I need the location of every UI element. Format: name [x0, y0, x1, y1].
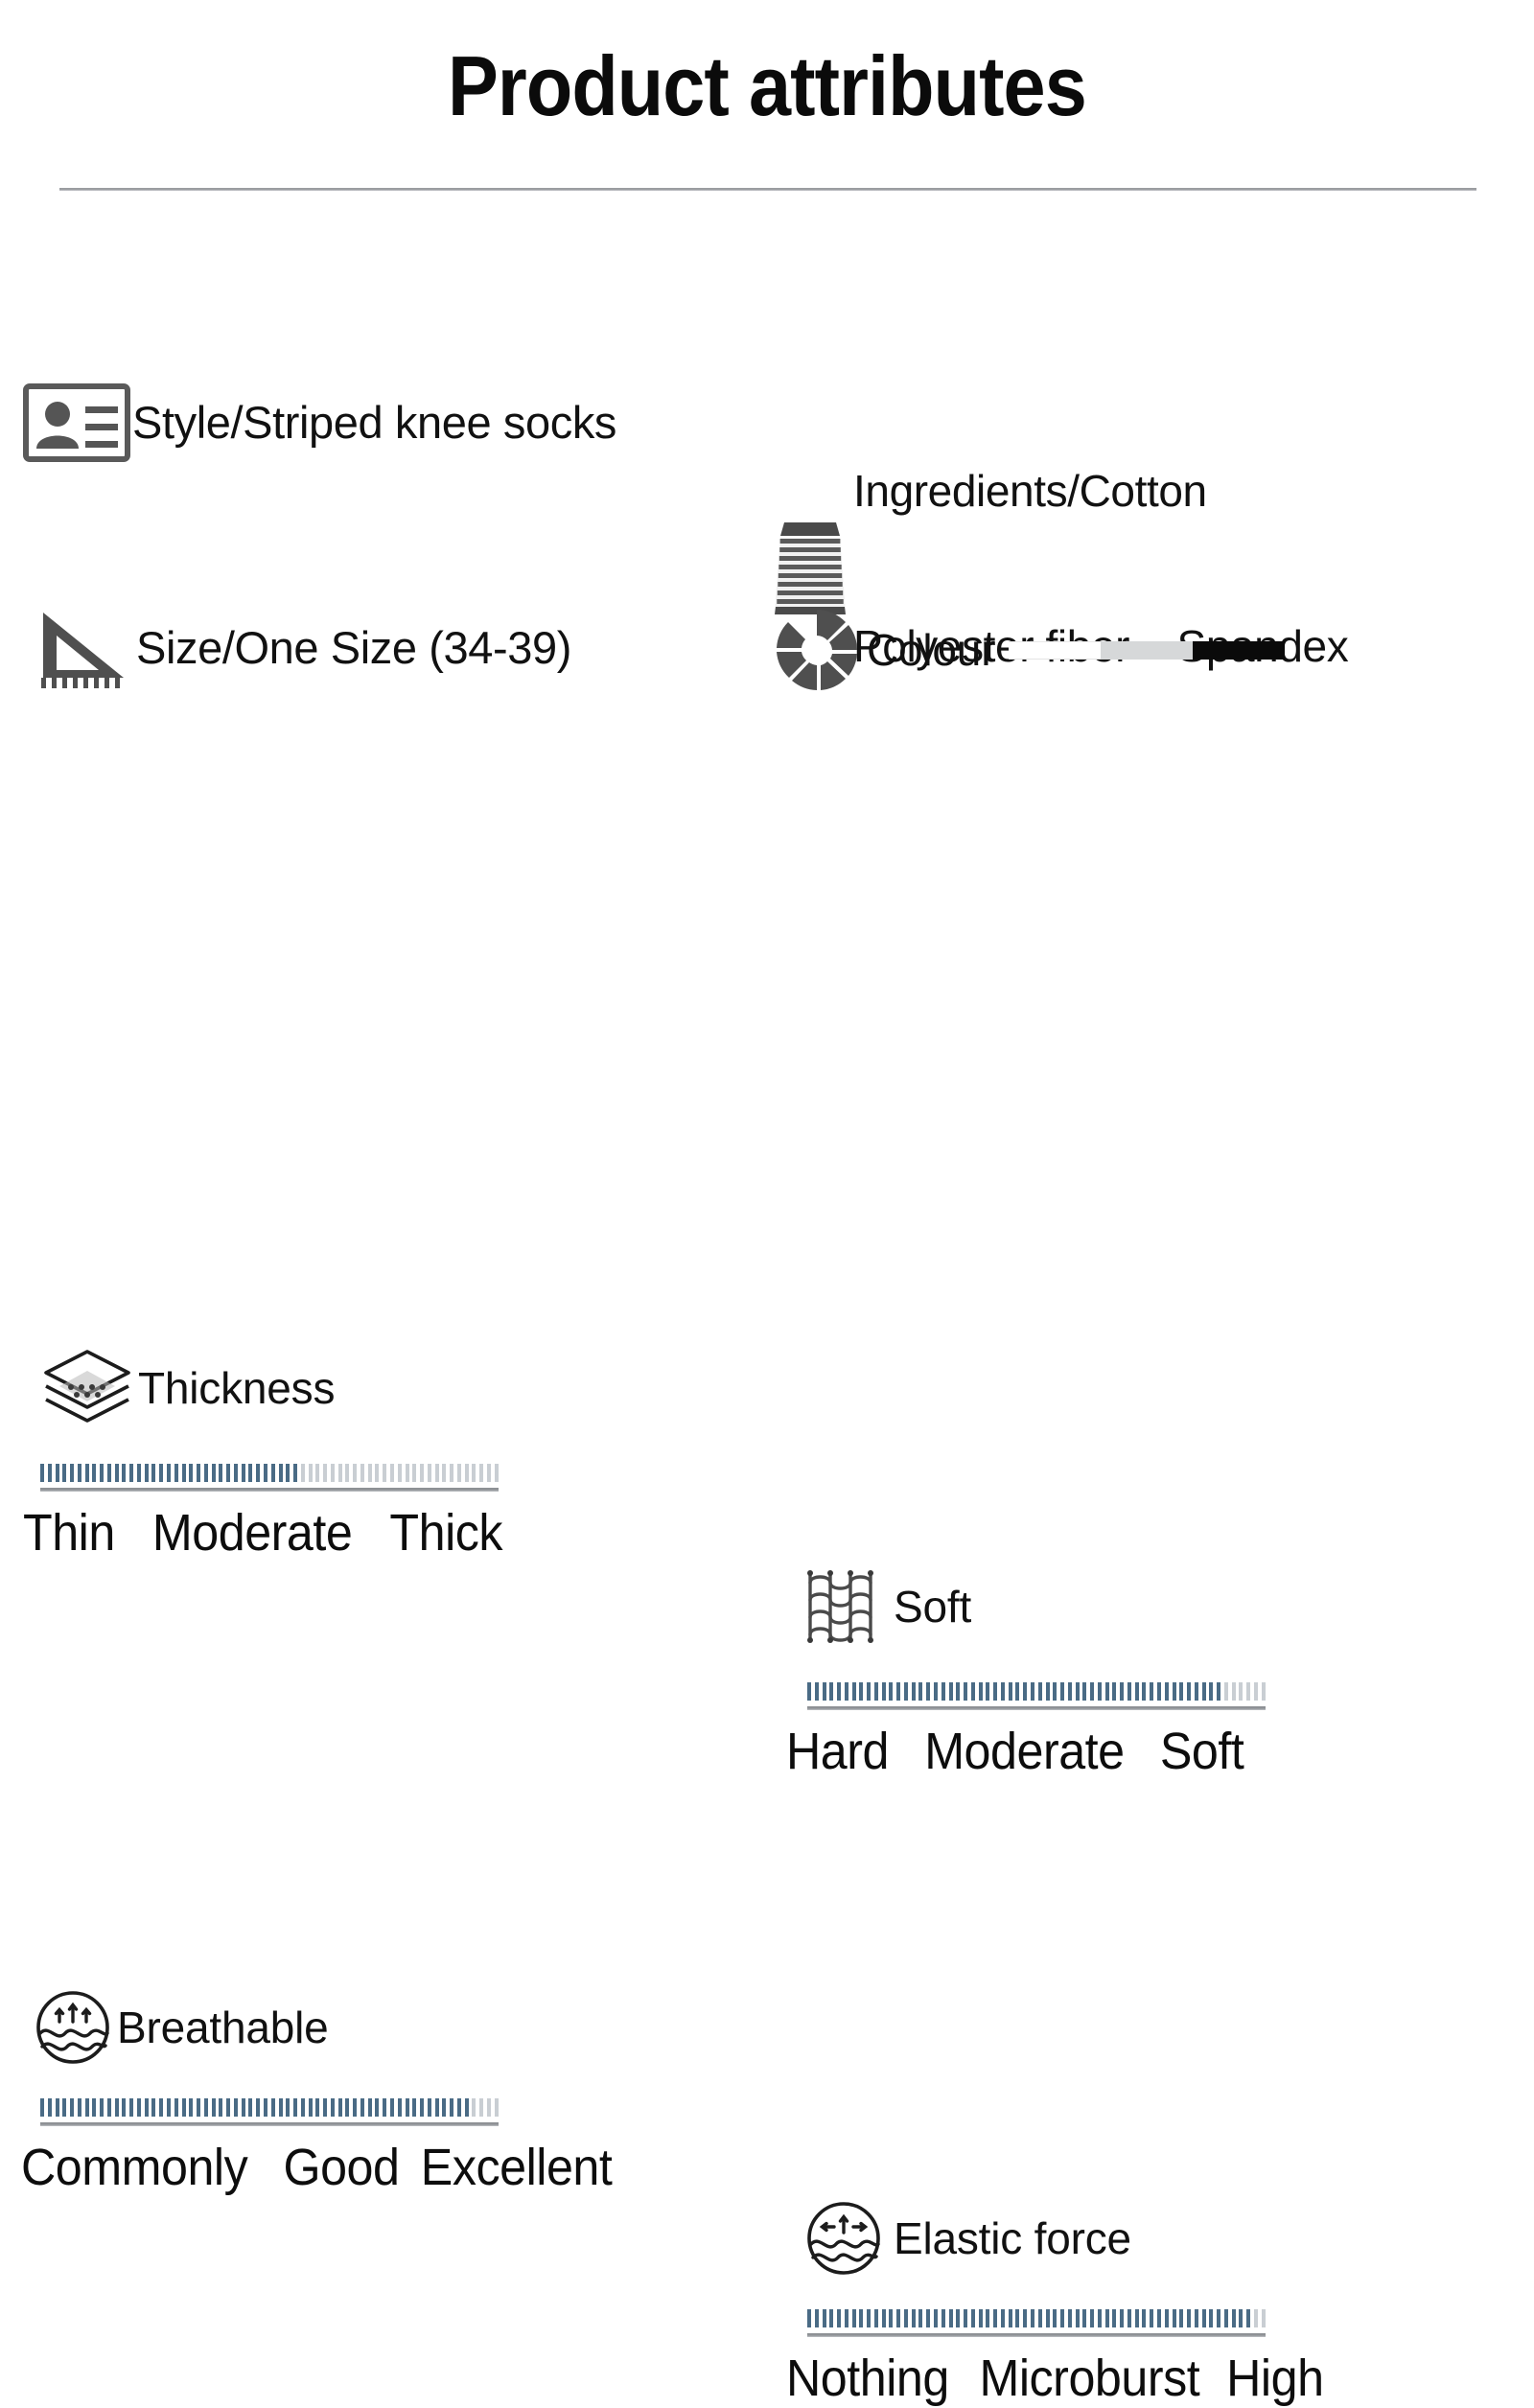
gauge-tick: [1187, 2309, 1191, 2327]
gauge-tick: [122, 1464, 126, 1482]
breathable-scale-0: Commonly: [21, 2138, 247, 2197]
gauge-tick: [1262, 1682, 1266, 1701]
gauge-tick: [1142, 2309, 1146, 2327]
gauge-tick: [92, 1464, 96, 1482]
gauge-tick: [406, 1464, 409, 1482]
gauge-tick: [40, 2098, 44, 2117]
swatch-grey[interactable]: [1101, 641, 1193, 660]
gauge-tick: [137, 1464, 141, 1482]
gauge-tick: [345, 1464, 349, 1482]
colour-swatches: [1009, 641, 1285, 660]
gauge-tick: [465, 1464, 469, 1482]
gauge-tick: [85, 2098, 89, 2117]
gauge-tick: [479, 1464, 483, 1482]
gauge-tick: [1150, 1682, 1153, 1701]
thickness-scale: Thin Moderate Thick: [23, 1503, 593, 1563]
gauge-tick: [338, 2098, 342, 2117]
gauge-tick: [286, 1464, 290, 1482]
gauge-tick: [137, 2098, 141, 2117]
gauge-tick: [1060, 1682, 1064, 1701]
gauge-tick: [428, 1464, 431, 1482]
gauge-tick: [271, 1464, 275, 1482]
attributes-grid: Style/Striped knee socks: [0, 226, 1534, 1296]
gauge-tick: [197, 1464, 200, 1482]
attribute-colour: Colour: [767, 604, 1285, 696]
gauge-tick: [368, 2098, 372, 2117]
gauge-tick: [815, 1682, 819, 1701]
gauge-tick: [390, 1464, 394, 1482]
gauge-tick: [390, 2098, 394, 2117]
gauge-tick: [1023, 2309, 1027, 2327]
gauge-tick: [360, 1464, 364, 1482]
gauge-tick: [971, 2309, 975, 2327]
gauge-tick: [1076, 1682, 1080, 1701]
elastic-gauge-ticks: [807, 2306, 1266, 2327]
gauge-tick: [293, 1464, 297, 1482]
gauge-tick: [889, 2309, 893, 2327]
gauge-tick: [1082, 1682, 1086, 1701]
gauge-tick: [234, 2098, 238, 2117]
soft-scale-1: Moderate: [924, 1722, 1124, 1781]
gauge-tick: [450, 1464, 453, 1482]
gauge-tick: [219, 1464, 222, 1482]
gauge-tick: [1120, 1682, 1124, 1701]
gauge-tick: [874, 1682, 878, 1701]
gauge-tick: [1262, 2309, 1266, 2327]
gauge-tick: [151, 1464, 155, 1482]
gauge-tick: [353, 1464, 357, 1482]
attribute-size: Size/One Size (34-39): [29, 604, 571, 692]
gauge-tick: [949, 2309, 953, 2327]
gauge-tick: [859, 2309, 863, 2327]
gauge-tick: [62, 2098, 66, 2117]
attribute-thickness-label: Thickness: [138, 1362, 335, 1414]
gauge-tick: [882, 2309, 886, 2327]
attribute-colour-label: Colour: [867, 624, 995, 676]
gauge-tick: [926, 2309, 930, 2327]
attribute-row-4: Breathable Commonly Good Excellent: [0, 1008, 1534, 1296]
gauge-tick: [264, 2098, 267, 2117]
gauge-tick: [1076, 2309, 1080, 2327]
gauge-tick: [442, 1464, 446, 1482]
thickness-scale-2: Thick: [389, 1503, 502, 1563]
gauge-tick: [331, 2098, 335, 2117]
gauge-tick: [993, 2309, 997, 2327]
breathable-gauge[interactable]: [40, 2095, 499, 2117]
gauge-tick: [1232, 1682, 1236, 1701]
gauge-tick: [383, 2098, 386, 2117]
gauge-tick: [815, 2309, 819, 2327]
gauge-tick: [896, 1682, 900, 1701]
gauge-tick: [904, 2309, 908, 2327]
gauge-tick: [248, 1464, 252, 1482]
thickness-gauge-rule: [40, 1488, 499, 1492]
gauge-tick: [62, 1464, 66, 1482]
gauge-tick: [829, 1682, 833, 1701]
gauge-tick: [1090, 1682, 1094, 1701]
gauge-tick: [167, 1464, 171, 1482]
gauge-tick: [986, 2309, 989, 2327]
gauge-tick: [1009, 2309, 1012, 2327]
elastic-gauge-rule: [807, 2333, 1266, 2337]
gauge-tick: [174, 2098, 178, 2117]
gauge-tick: [1179, 2309, 1183, 2327]
soft-gauge[interactable]: [807, 1679, 1266, 1701]
gauge-tick: [1173, 1682, 1176, 1701]
gauge-tick: [1224, 2309, 1228, 2327]
gauge-tick: [487, 2098, 491, 2117]
gauge-tick: [412, 1464, 416, 1482]
gauge-tick: [1105, 2309, 1109, 2327]
gauge-tick: [852, 1682, 856, 1701]
gauge-tick: [807, 2309, 811, 2327]
gauge-tick: [926, 1682, 930, 1701]
gauge-tick: [375, 2098, 379, 2117]
gauge-tick: [115, 1464, 119, 1482]
page-title: Product attributes: [448, 44, 1086, 128]
gauge-tick: [286, 2098, 290, 2117]
gauge-tick: [904, 1682, 908, 1701]
gauge-tick: [896, 2309, 900, 2327]
gauge-tick: [1224, 1682, 1228, 1701]
soft-gauge-ticks: [807, 1679, 1266, 1701]
gauge-tick: [212, 1464, 216, 1482]
attribute-size-text: Size/One Size (34-39): [136, 623, 571, 673]
gauge-tick: [375, 1464, 379, 1482]
attribute-elastic: Elastic force Nothing Microburst High: [794, 2197, 1534, 2408]
gauge-tick: [435, 2098, 439, 2117]
gauge-tick: [56, 1464, 59, 1482]
gauge-tick: [1023, 1682, 1027, 1701]
gauge-tick: [1120, 2309, 1124, 2327]
gauge-tick: [234, 1464, 238, 1482]
gauge-tick: [1217, 2309, 1220, 2327]
attribute-row-1: Style/Striped knee socks: [0, 226, 1534, 452]
gauge-tick: [115, 2098, 119, 2117]
gauge-tick: [1112, 2309, 1116, 2327]
gauge-tick: [1098, 1682, 1102, 1701]
gauge-tick: [420, 1464, 424, 1482]
gauge-tick: [398, 1464, 402, 1482]
gauge-tick: [823, 2309, 826, 2327]
gauge-tick: [1246, 2309, 1250, 2327]
gauge-tick: [457, 2098, 461, 2117]
knit-texture-icon: [794, 1563, 894, 1651]
swatch-black[interactable]: [1193, 641, 1285, 660]
elastic-scale: Nothing Microburst High: [786, 2349, 1429, 2408]
gauge-tick: [823, 1682, 826, 1701]
gauge-tick: [964, 1682, 967, 1701]
gauge-tick: [279, 1464, 283, 1482]
gauge-tick: [412, 2098, 416, 2117]
elastic-circle-icon: [794, 2197, 894, 2280]
gauge-tick: [889, 1682, 893, 1701]
gauge-tick: [949, 1682, 953, 1701]
breathable-gauge-rule: [40, 2122, 499, 2126]
gauge-tick: [1135, 1682, 1139, 1701]
gauge-tick: [264, 1464, 267, 1482]
gauge-tick: [807, 1682, 811, 1701]
gauge-tick: [1246, 1682, 1250, 1701]
gauge-tick: [383, 1464, 386, 1482]
gauge-tick: [420, 2098, 424, 2117]
gauge-tick: [956, 2309, 960, 2327]
gauge-tick: [1031, 2309, 1034, 2327]
gauge-tick: [159, 1464, 163, 1482]
gauge-tick: [70, 1464, 74, 1482]
attribute-breathable-label: Breathable: [117, 2002, 329, 2053]
gauge-tick: [964, 2309, 967, 2327]
soft-scale: Hard Moderate Soft: [786, 1722, 1339, 1781]
gauge-tick: [495, 1464, 499, 1482]
gauge-tick: [837, 1682, 841, 1701]
gauge-tick: [1001, 2309, 1005, 2327]
gauge-tick: [353, 2098, 357, 2117]
gauge-tick: [1165, 2309, 1169, 2327]
gauge-tick: [1209, 2309, 1213, 2327]
gauge-tick: [226, 2098, 230, 2117]
gauge-tick: [107, 2098, 111, 2117]
breathable-scale-1: Good: [283, 2138, 399, 2197]
color-wheel-icon: [767, 604, 867, 696]
gauge-tick: [107, 1464, 111, 1482]
gauge-tick: [941, 2309, 945, 2327]
gauge-tick: [1068, 2309, 1072, 2327]
elastic-scale-1: Microburst: [979, 2349, 1199, 2408]
gauge-tick: [1001, 1682, 1005, 1701]
gauge-tick: [874, 2309, 878, 2327]
gauge-tick: [368, 1464, 372, 1482]
gauge-tick: [197, 2098, 200, 2117]
gauge-tick: [70, 2098, 74, 2117]
gauge-tick: [100, 2098, 104, 2117]
gauge-tick: [1127, 2309, 1131, 2327]
gauge-tick: [1165, 1682, 1169, 1701]
gauge-tick: [174, 1464, 178, 1482]
gauge-tick: [487, 1464, 491, 1482]
gauge-tick: [979, 1682, 983, 1701]
soft-gauge-rule: [807, 1706, 1266, 1710]
gauge-tick: [151, 2098, 155, 2117]
breathable-gauge-ticks: [40, 2095, 499, 2117]
attribute-elastic-label: Elastic force: [894, 2212, 1131, 2264]
gauge-tick: [457, 1464, 461, 1482]
swatch-white[interactable]: [1009, 641, 1101, 660]
gauge-tick: [1239, 2309, 1243, 2327]
breathable-circle-icon: [29, 1986, 117, 2069]
gauge-tick: [912, 1682, 916, 1701]
gauge-tick: [1142, 1682, 1146, 1701]
gauge-tick: [993, 1682, 997, 1701]
gauge-tick: [48, 2098, 52, 2117]
gauge-tick: [1179, 1682, 1183, 1701]
gauge-tick: [1217, 1682, 1220, 1701]
soft-scale-0: Hard: [786, 1722, 889, 1781]
gauge-tick: [293, 2098, 297, 2117]
gauge-tick: [1202, 2309, 1206, 2327]
gauge-tick: [1195, 1682, 1198, 1701]
gauge-tick: [248, 2098, 252, 2117]
gauge-tick: [338, 1464, 342, 1482]
gauge-tick: [204, 2098, 208, 2117]
gauge-tick: [956, 1682, 960, 1701]
gauge-tick: [472, 1464, 476, 1482]
gauge-tick: [1239, 1682, 1243, 1701]
gauge-tick: [271, 2098, 275, 2117]
gauge-tick: [1232, 2309, 1236, 2327]
gauge-tick: [406, 2098, 409, 2117]
thickness-scale-0: Thin: [23, 1503, 115, 1563]
gauge-tick: [56, 2098, 59, 2117]
gauge-tick: [1157, 2309, 1161, 2327]
gauge-tick: [1195, 2309, 1198, 2327]
gauge-tick: [182, 1464, 186, 1482]
thickness-gauge-ticks: [40, 1461, 499, 1482]
gauge-tick: [315, 2098, 319, 2117]
gauge-tick: [918, 1682, 922, 1701]
gauge-tick: [867, 2309, 871, 2327]
gauge-tick: [309, 2098, 313, 2117]
gauge-tick: [1015, 1682, 1019, 1701]
gauge-tick: [1135, 2309, 1139, 2327]
gauge-tick: [189, 2098, 193, 2117]
gauge-tick: [360, 2098, 364, 2117]
gauge-tick: [442, 2098, 446, 2117]
gauge-tick: [256, 1464, 260, 1482]
gauge-tick: [219, 2098, 222, 2117]
attribute-row-2: Size/One Size (34-39): [0, 452, 1534, 692]
gauge-tick: [182, 2098, 186, 2117]
gauge-tick: [92, 2098, 96, 2117]
gauge-tick: [78, 2098, 81, 2117]
gauge-tick: [331, 1464, 335, 1482]
soft-scale-2: Soft: [1160, 1722, 1243, 1781]
gauge-tick: [918, 2309, 922, 2327]
gauge-tick: [867, 1682, 871, 1701]
thickness-gauge[interactable]: [40, 1461, 499, 1482]
gauge-tick: [1053, 1682, 1057, 1701]
gauge-tick: [1090, 2309, 1094, 2327]
elastic-scale-0: Nothing: [786, 2349, 949, 2408]
gauge-tick: [859, 1682, 863, 1701]
gauge-tick: [428, 2098, 431, 2117]
gauge-tick: [845, 1682, 848, 1701]
gauge-tick: [941, 1682, 945, 1701]
gauge-tick: [315, 1464, 319, 1482]
thickness-scale-1: Moderate: [152, 1503, 352, 1563]
gauge-tick: [85, 1464, 89, 1482]
gauge-tick: [301, 2098, 305, 2117]
elastic-gauge[interactable]: [807, 2306, 1266, 2327]
breathable-scale-2: Excellent: [421, 2138, 613, 2197]
gauge-tick: [934, 1682, 938, 1701]
gauge-tick: [1150, 2309, 1153, 2327]
gauge-tick: [1046, 1682, 1050, 1701]
gauge-tick: [435, 1464, 439, 1482]
gauge-tick: [837, 2309, 841, 2327]
gauge-tick: [323, 2098, 327, 2117]
gauge-tick: [1082, 2309, 1086, 2327]
gauge-tick: [345, 2098, 349, 2117]
gauge-tick: [1098, 2309, 1102, 2327]
gauge-tick: [204, 1464, 208, 1482]
gauge-tick: [912, 2309, 916, 2327]
attribute-soft: Soft Hard Moderate Soft: [794, 1563, 1534, 1781]
gauge-tick: [212, 2098, 216, 2117]
gauge-tick: [189, 1464, 193, 1482]
gauge-tick: [145, 1464, 149, 1482]
gauge-tick: [48, 1464, 52, 1482]
gauge-tick: [1009, 1682, 1012, 1701]
gauge-tick: [472, 2098, 476, 2117]
gauge-tick: [986, 1682, 989, 1701]
gauge-tick: [1202, 1682, 1206, 1701]
gauge-tick: [100, 1464, 104, 1482]
gauge-tick: [78, 1464, 81, 1482]
gauge-tick: [1038, 1682, 1042, 1701]
gauge-tick: [882, 1682, 886, 1701]
page-header: Product attributes: [0, 0, 1534, 128]
attribute-row-3: Thickness Thin Moderate Thick: [0, 692, 1534, 1008]
gauge-tick: [226, 1464, 230, 1482]
gauge-tick: [852, 2309, 856, 2327]
gauge-tick: [829, 2309, 833, 2327]
triangle-ruler-icon: [29, 604, 136, 692]
gauge-tick: [450, 2098, 453, 2117]
gauge-tick: [40, 1464, 44, 1482]
gauge-tick: [301, 1464, 305, 1482]
gauge-tick: [465, 2098, 469, 2117]
gauge-tick: [1053, 2309, 1057, 2327]
gauge-tick: [1060, 2309, 1064, 2327]
gauge-tick: [1038, 2309, 1042, 2327]
gauge-tick: [122, 2098, 126, 2117]
gauge-tick: [495, 2098, 499, 2117]
gauge-tick: [1209, 1682, 1213, 1701]
gauge-tick: [1173, 2309, 1176, 2327]
attribute-thickness: Thickness Thin Moderate Thick: [29, 1344, 1534, 1563]
gauge-tick: [979, 2309, 983, 2327]
gauge-tick: [242, 1464, 245, 1482]
gauge-tick: [323, 1464, 327, 1482]
gauge-tick: [1127, 1682, 1131, 1701]
gauge-tick: [1031, 1682, 1034, 1701]
gauge-tick: [1187, 1682, 1191, 1701]
gauge-tick: [1254, 2309, 1258, 2327]
gauge-tick: [1015, 2309, 1019, 2327]
breathable-scale: Commonly Good Excellent: [21, 2138, 681, 2197]
attribute-soft-label: Soft: [894, 1581, 971, 1632]
gauge-tick: [167, 2098, 171, 2117]
gauge-tick: [971, 1682, 975, 1701]
elastic-scale-2: High: [1226, 2349, 1323, 2408]
gauge-tick: [1105, 1682, 1109, 1701]
gauge-tick: [398, 2098, 402, 2117]
gauge-tick: [1046, 2309, 1050, 2327]
gauge-tick: [1254, 1682, 1258, 1701]
header-divider: [59, 188, 1476, 191]
gauge-tick: [309, 1464, 313, 1482]
gauge-tick: [242, 2098, 245, 2117]
layers-icon: [36, 1344, 138, 1432]
gauge-tick: [479, 2098, 483, 2117]
gauge-tick: [159, 2098, 163, 2117]
gauge-tick: [934, 2309, 938, 2327]
gauge-tick: [1068, 1682, 1072, 1701]
gauge-tick: [129, 1464, 133, 1482]
attribute-breathable: Breathable Commonly Good Excellent: [29, 1986, 1534, 2197]
gauge-tick: [845, 2309, 848, 2327]
